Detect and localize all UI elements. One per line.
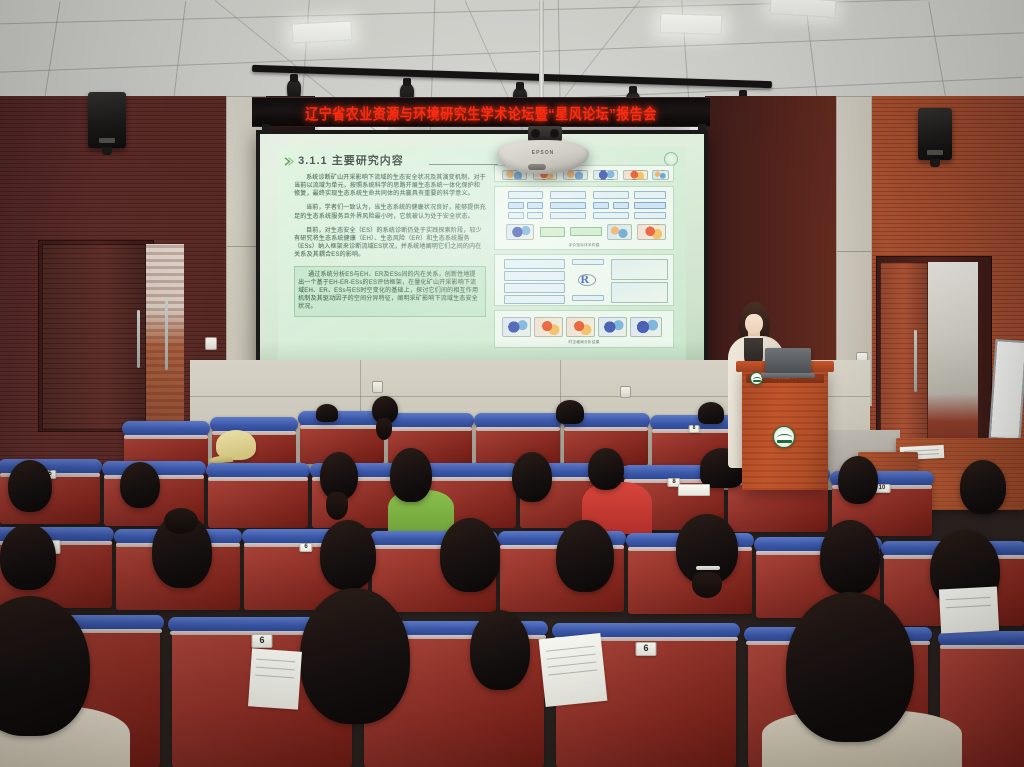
lecture-hall-photo: 辽宁省农业资源与环境研究生学术论坛暨“星风论坛”报告会 3.1.1 主要研究内容… [0,0,1024,767]
wall-outlet [372,381,383,393]
screen-surface: 3.1.1 主要研究内容 系统诊断矿山开采影响下流域的生态安全状况及其演变机制，… [260,134,704,374]
title-arrow-icon [284,156,295,167]
door-right-leaf[interactable] [880,262,928,450]
podium: 沈阳农业大学 [742,368,828,490]
presenter-face [745,314,763,334]
slide-paragraph: 系统诊断矿山开采影响下流域的生态安全状况及其演变机制，对于当前以流域为单元，按照… [294,174,486,199]
diagram-caption: 评价指标体系构建 [569,243,600,248]
seat-headrest [386,413,473,428]
door-left-handle[interactable] [137,310,140,368]
projection-screen: 3.1.1 主要研究内容 系统诊断矿山开采影响下流域的生态安全状况及其演变机制，… [256,130,708,378]
seat-headrest [122,421,209,436]
light-switch-left[interactable] [205,337,217,350]
seat-number: 6 [251,634,272,648]
handout-papers [539,633,608,707]
slide-title: 3.1.1 主要研究内容 [298,152,404,168]
r-software-logo: R [581,273,590,285]
door-right-handle[interactable] [914,330,917,392]
speaker-badge [927,150,943,155]
seat-headrest [210,417,297,432]
presentation-slide: 3.1.1 主要研究内容 系统诊断矿山开采影响下流域的生态安全状况及其演变机制，… [278,146,686,360]
door-left-handle-outer[interactable] [165,300,168,370]
seat-number: 6 [635,642,656,656]
hair-bun [164,508,198,534]
led-banner: 辽宁省农业资源与环境研究生学术论坛暨“星风论坛”报告会 [252,97,710,127]
presenter-laptop [765,348,811,374]
slide-paragraph: 目前，对生态安全（ES）的系统诊断仍处于实践探索阶段，较少有研究将生态系统健康（… [294,227,486,260]
whiteboard [989,339,1024,441]
seat-headrest [938,631,1024,646]
diagram-method-panel: R [494,254,674,306]
door-left-leaf[interactable] [42,244,146,430]
wall-speaker-right [918,108,952,160]
ceiling-light [292,20,353,43]
slide-paragraph: 当前，学者们一致认为，当生态系统的健康状况良好，能够提供充足的生态系统服务且外界… [294,204,486,220]
diagram-indicator-framework: 评价指标体系构建 [494,186,674,250]
slide-diagram-column: 评价指标体系构建 R [494,165,674,349]
baseball-cap [216,430,256,460]
seat-headrest [474,413,561,428]
projector-lens [528,164,546,170]
slide-paragraph-highlighted: 通过系统分析ES与EH、ER及ESs间的内在关系，创新性地提出一个基于EH-ER… [294,266,486,317]
wall-speaker-left [88,92,126,148]
projector-brand-label: EPSON [532,150,555,156]
seat-number: 8 [689,425,700,433]
banner-text: 辽宁省农业资源与环境研究生学术论坛暨“星风论坛”报告会 [305,101,657,123]
handout-papers [939,587,999,634]
slide-title-rule [429,164,498,165]
handout-papers [248,648,302,709]
slide-text-column: 系统诊断矿山开采影响下流域的生态安全状况及其演变机制，对于当前以流域为单元，按照… [294,174,486,323]
hair-tie [696,566,720,570]
speaker-badge [99,138,115,143]
seat-number: 6 [299,543,312,552]
door-right-opening [926,262,978,450]
seat[interactable] [208,470,308,528]
ceiling-light [660,13,723,35]
name-card [678,484,710,496]
wall-outlet [620,386,631,398]
seat-headrest [206,463,310,478]
podium-emblem [773,426,795,448]
